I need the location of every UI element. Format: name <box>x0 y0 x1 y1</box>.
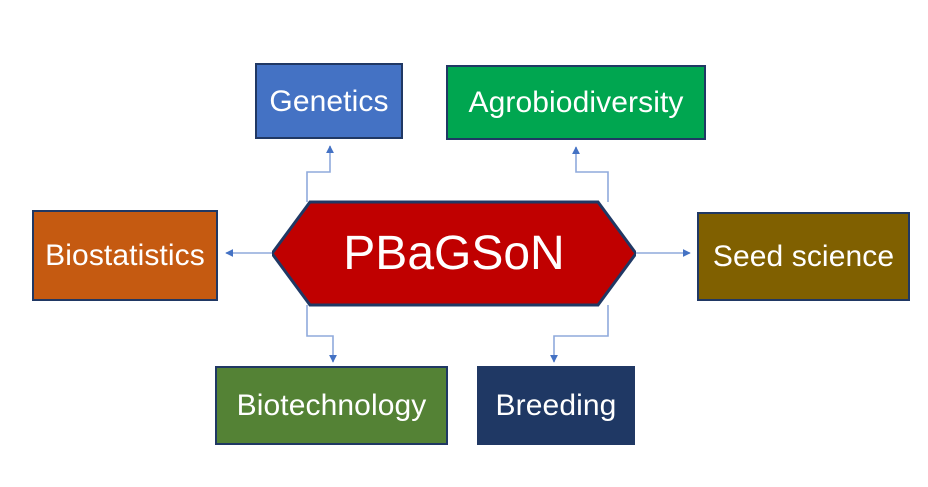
connector-hub-to-genetics <box>307 146 330 202</box>
node-breeding-label: Breeding <box>496 389 617 422</box>
node-biotechnology-label: Biotechnology <box>237 389 427 422</box>
node-seed-science[interactable]: Seed science <box>697 212 910 301</box>
node-agrobiodiversity-label: Agrobiodiversity <box>468 86 683 119</box>
node-breeding[interactable]: Breeding <box>477 366 635 445</box>
node-biostatistics-label: Biostatistics <box>45 239 205 272</box>
connector-hub-to-agrobiodiversity <box>576 147 608 202</box>
hexagon-shape <box>272 200 636 307</box>
node-biostatistics[interactable]: Biostatistics <box>32 210 218 301</box>
node-seed-science-label: Seed science <box>713 240 894 273</box>
connector-hub-to-breeding <box>554 305 608 362</box>
node-genetics[interactable]: Genetics <box>255 63 403 139</box>
diagram-canvas: Genetics Agrobiodiversity Biostatistics … <box>0 0 928 487</box>
connector-hub-to-biotechnology <box>307 305 333 362</box>
node-pbagson-hub[interactable]: PBaGSoN <box>272 200 636 307</box>
node-biotechnology[interactable]: Biotechnology <box>215 366 448 445</box>
node-agrobiodiversity[interactable]: Agrobiodiversity <box>446 65 706 140</box>
node-genetics-label: Genetics <box>269 85 388 118</box>
